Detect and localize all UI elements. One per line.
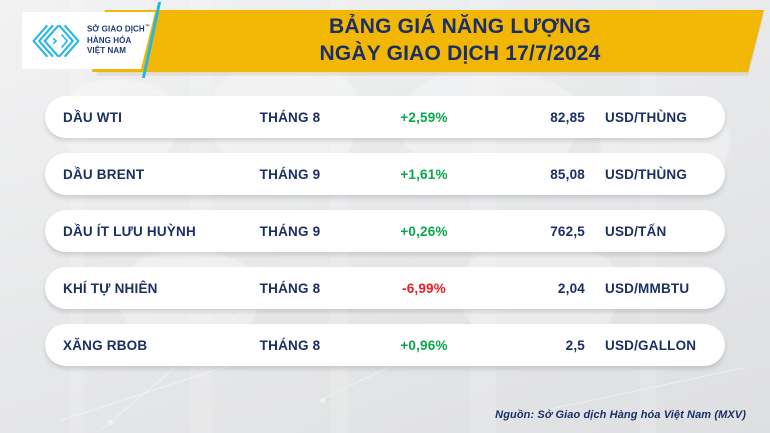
mxv-maze-logo-icon — [28, 22, 84, 60]
commodity-name: XĂNG RBOB — [45, 338, 231, 353]
table-row: DẦU ÍT LƯU HUỲNHTHÁNG 9+0,26%762,5USD/TẤ… — [45, 210, 725, 252]
price-change-percent: +0,26% — [349, 224, 499, 239]
price-value: 2,5 — [499, 338, 585, 353]
table-row: KHÍ TỰ NHIÊNTHÁNG 8-6,99%2,04USD/MMBTU — [45, 267, 725, 309]
table-row: XĂNG RBOBTHÁNG 8+0,96%2,5USD/GALLON — [45, 324, 725, 366]
price-unit: USD/TẤN — [585, 224, 666, 239]
commodity-name: KHÍ TỰ NHIÊN — [45, 281, 231, 296]
price-change-percent: -6,99% — [349, 281, 499, 296]
logo-line-3: VIỆT NAM — [87, 46, 150, 57]
contract-month: THÁNG 9 — [231, 224, 349, 239]
logo-card: SỞ GIAO DỊCH™ HÀNG HÓA VIỆT NAM — [22, 12, 155, 69]
price-unit: USD/THÙNG — [585, 167, 687, 182]
price-change-percent: +2,59% — [349, 110, 499, 125]
table-row: DẦU WTITHÁNG 8+2,59%82,85USD/THÙNG — [45, 96, 725, 138]
contract-month: THÁNG 9 — [231, 167, 349, 182]
price-value: 762,5 — [499, 224, 585, 239]
price-unit: USD/MMBTU — [585, 281, 689, 296]
price-value: 2,04 — [499, 281, 585, 296]
title-line-1: BẢNG GIÁ NĂNG LƯỢNG — [329, 14, 591, 41]
energy-price-board: SỞ GIAO DỊCH™ HÀNG HÓA VIỆT NAM BẢNG GIÁ… — [0, 0, 770, 433]
price-value: 85,08 — [499, 167, 585, 182]
table-row: DẦU BRENTTHÁNG 9+1,61%85,08USD/THÙNG — [45, 153, 725, 195]
contract-month: THÁNG 8 — [231, 338, 349, 353]
price-change-percent: +0,96% — [349, 338, 499, 353]
logo-wordmark: SỞ GIAO DỊCH™ HÀNG HÓA VIỆT NAM — [87, 24, 150, 56]
trademark-icon: ™ — [145, 24, 150, 30]
price-value: 82,85 — [499, 110, 585, 125]
source-note: Nguồn: Sở Giao dịch Hàng hóa Việt Nam (M… — [495, 409, 746, 421]
price-unit: USD/GALLON — [585, 338, 696, 353]
price-unit: USD/THÙNG — [585, 110, 687, 125]
price-table: DẦU WTITHÁNG 8+2,59%82,85USD/THÙNGDẦU BR… — [0, 96, 770, 381]
logo-line-1: SỞ GIAO DỊCH — [87, 25, 145, 34]
contract-month: THÁNG 8 — [231, 110, 349, 125]
price-change-percent: +1,61% — [349, 167, 499, 182]
page-title: BẢNG GIÁ NĂNG LƯỢNG NGÀY GIAO DỊCH 17/7/… — [180, 12, 740, 70]
commodity-name: DẦU WTI — [45, 110, 231, 125]
contract-month: THÁNG 8 — [231, 281, 349, 296]
board-header: SỞ GIAO DỊCH™ HÀNG HÓA VIỆT NAM BẢNG GIÁ… — [0, 0, 770, 84]
commodity-name: DẦU BRENT — [45, 167, 231, 182]
logo-line-2: HÀNG HÓA — [87, 36, 150, 47]
commodity-name: DẦU ÍT LƯU HUỲNH — [45, 224, 231, 239]
title-line-2: NGÀY GIAO DỊCH 17/7/2024 — [319, 41, 600, 68]
